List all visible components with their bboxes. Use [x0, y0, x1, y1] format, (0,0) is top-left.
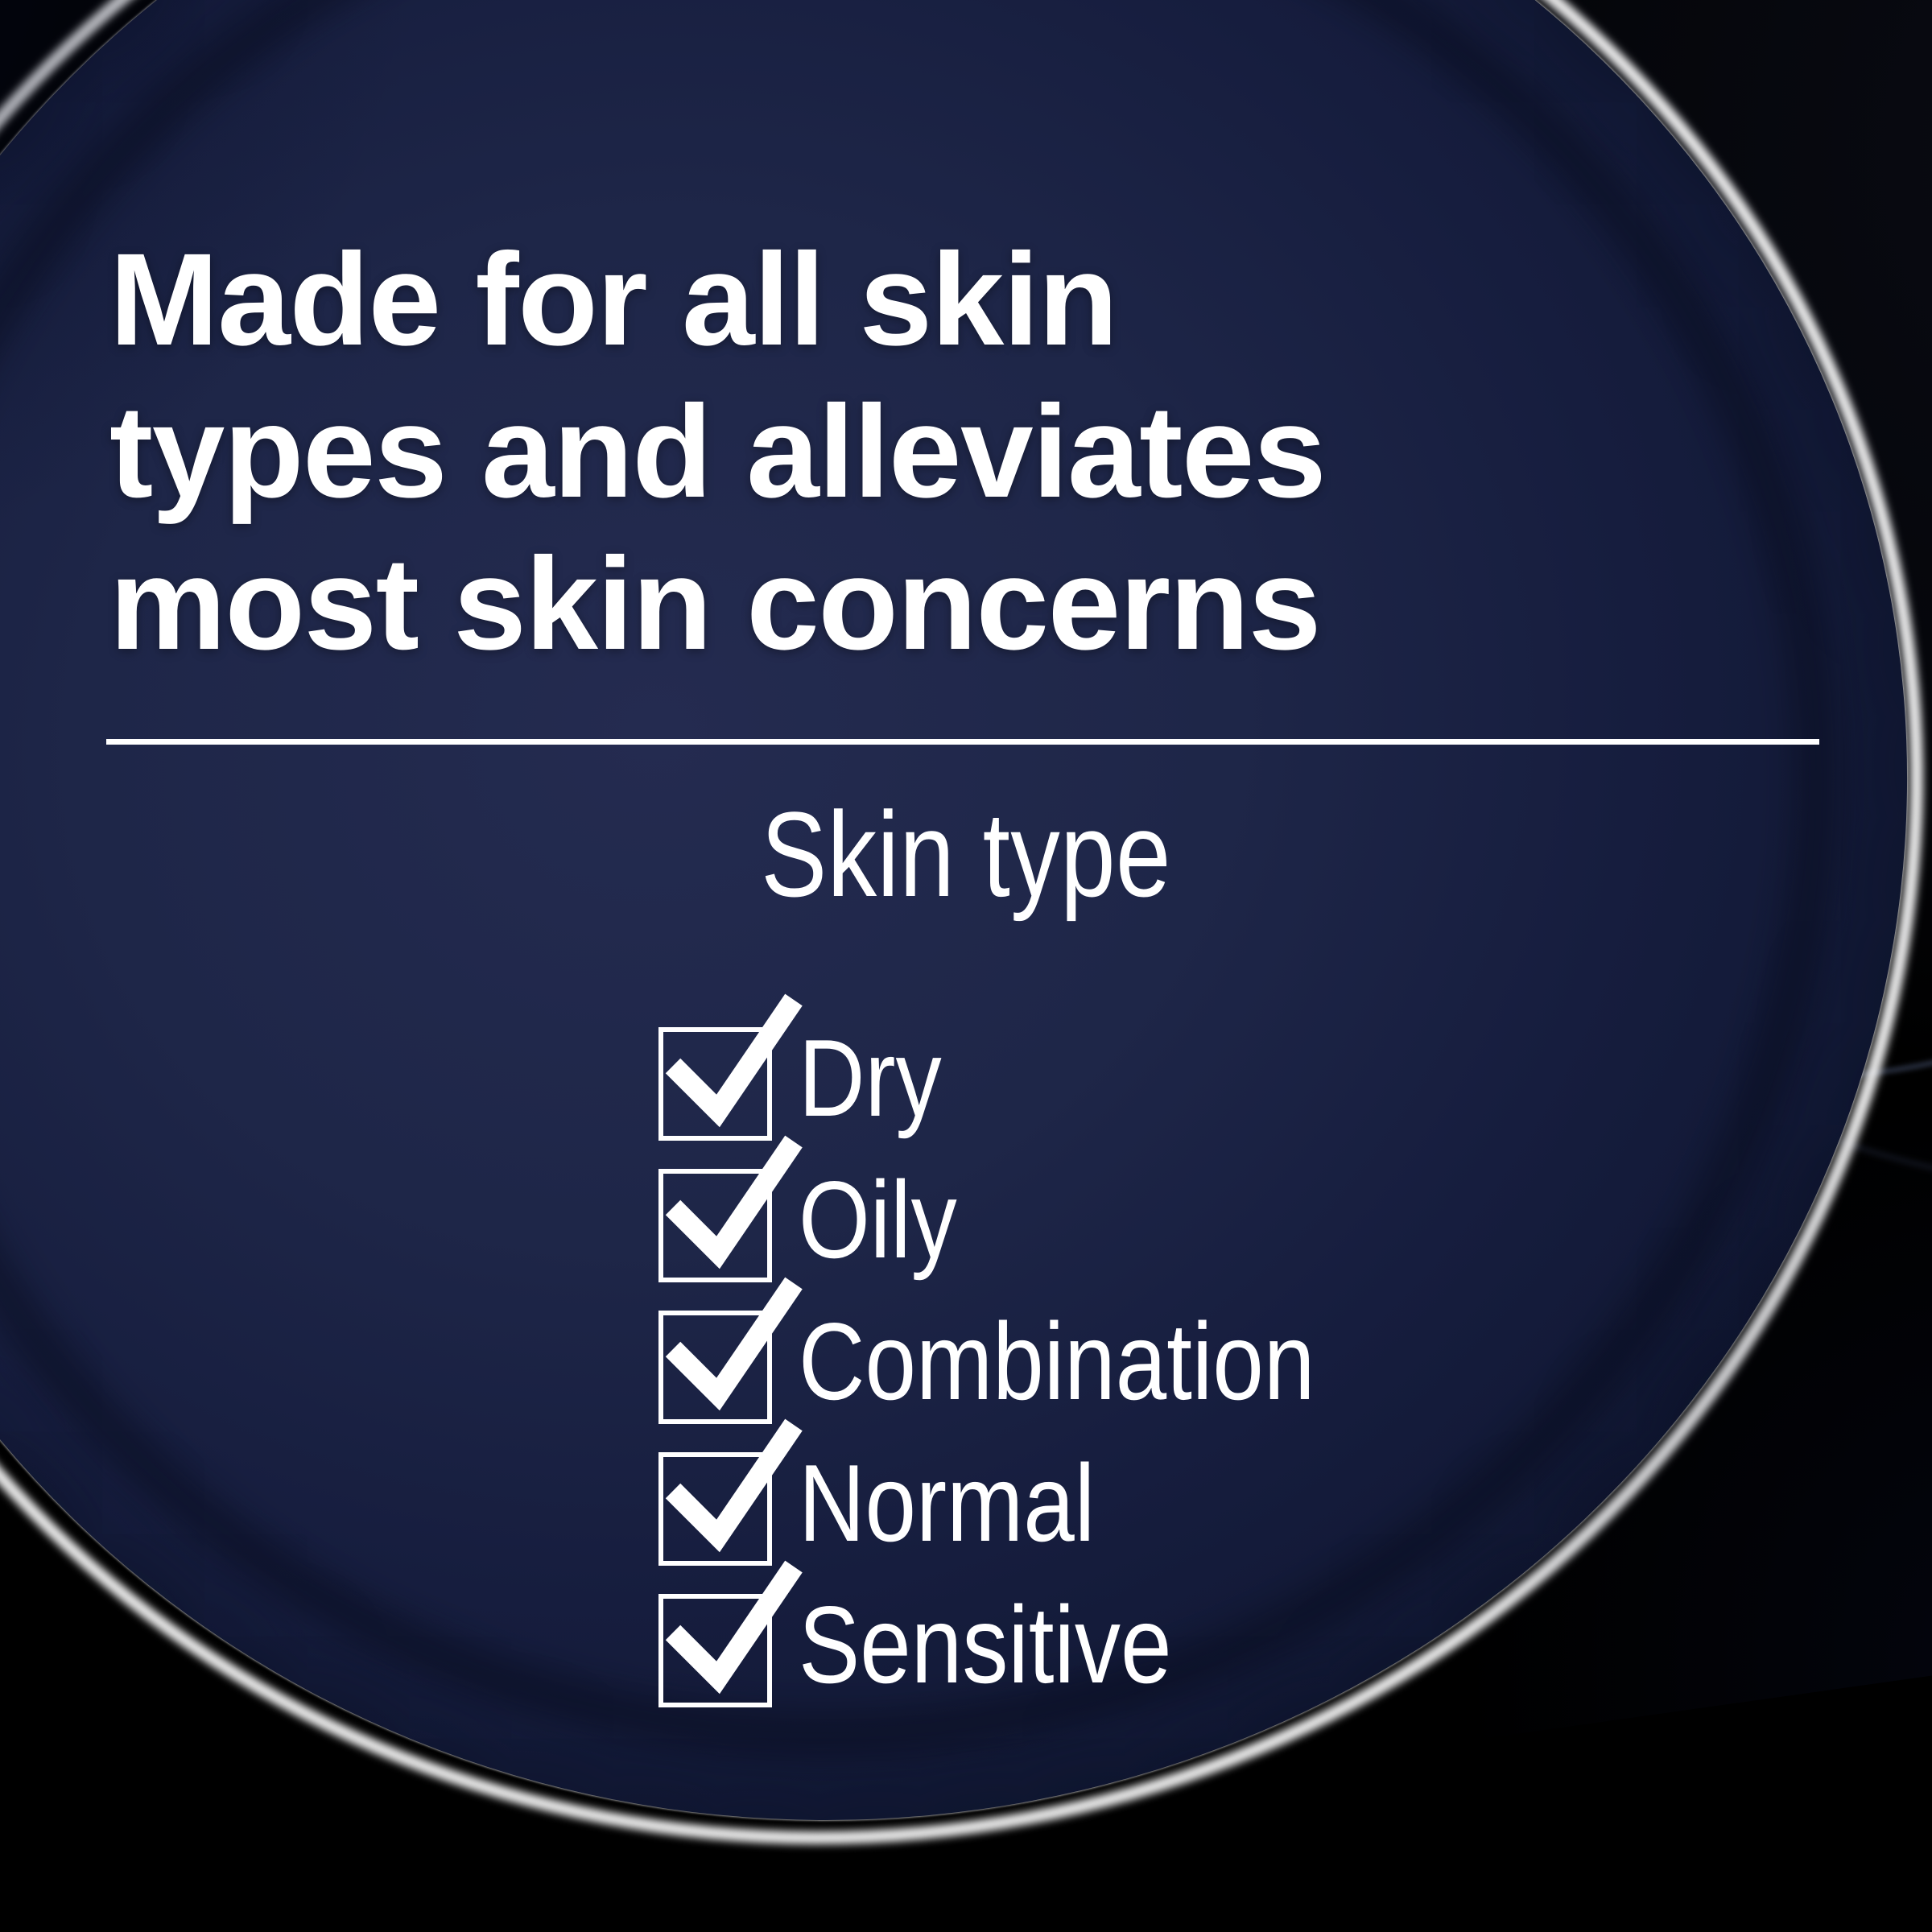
page-title: Made for all skin types and alleviates m… [109, 223, 1655, 679]
checkbox-checked-icon[interactable] [658, 1013, 776, 1141]
list-item-label: Dry [799, 1013, 942, 1138]
list-item-label: Normal [799, 1438, 1095, 1563]
checkmark-icon [660, 1414, 821, 1575]
list-item[interactable]: Normal [658, 1438, 1866, 1579]
checkmark-icon [660, 989, 821, 1150]
list-item-label: Combination [799, 1296, 1315, 1422]
checkbox-checked-icon[interactable] [658, 1154, 776, 1283]
infographic-canvas: Made for all skin types and alleviates m… [0, 0, 1932, 1932]
list-item-label: Sensitive [799, 1579, 1172, 1705]
checkmark-icon [660, 1555, 821, 1716]
checkbox-checked-icon[interactable] [658, 1296, 776, 1425]
list-item[interactable]: Combination [658, 1296, 1866, 1438]
checkbox-checked-icon[interactable] [658, 1579, 776, 1708]
skin-type-checklist: Dry Oily Combination [658, 1013, 1866, 1721]
list-item-label: Oily [799, 1154, 957, 1280]
section-subtitle: Skin type [174, 794, 1758, 914]
checkmark-icon [660, 1130, 821, 1291]
list-item[interactable]: Oily [658, 1154, 1866, 1296]
checkmark-icon [660, 1272, 821, 1433]
divider-rule [106, 739, 1819, 745]
content-layer: Made for all skin types and alleviates m… [0, 0, 1932, 1932]
checkbox-checked-icon[interactable] [658, 1438, 776, 1567]
list-item[interactable]: Dry [658, 1013, 1866, 1154]
list-item[interactable]: Sensitive [658, 1579, 1866, 1721]
